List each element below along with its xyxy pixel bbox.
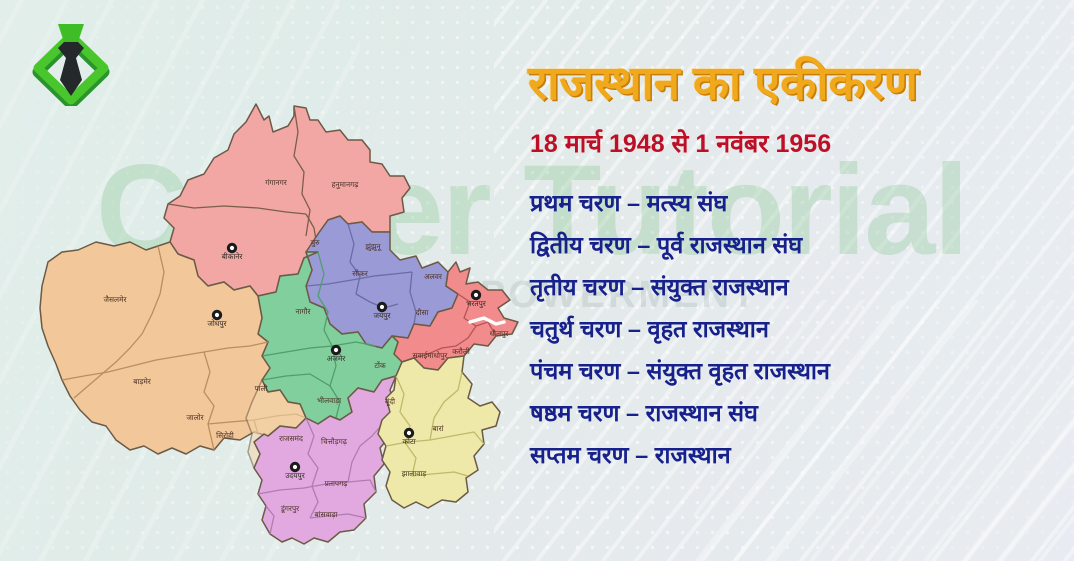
map-district-label: पाली xyxy=(254,384,268,393)
map-district-label: डूंगरपुर xyxy=(280,504,300,514)
map-district-label: बूंदी xyxy=(385,397,396,407)
map-district-label: राजसमंद xyxy=(279,434,303,443)
map-district-label: बांसवाड़ा xyxy=(314,510,338,519)
map-district-label: अजमेर xyxy=(327,354,347,363)
map-district-label: नागौर xyxy=(295,307,311,316)
infographic-canvas: Career Tutorial PLACEMENT & EMPOWERMENT xyxy=(0,0,1074,561)
phase-item-3: तृतीय चरण – संयुक्त राजस्थान xyxy=(530,276,1070,300)
page-title: राजस्थान का एकीकरण xyxy=(528,58,1068,107)
map-district-label: हनुमानगढ़ xyxy=(332,180,360,189)
map-district-label: दौसा xyxy=(416,308,430,317)
map-district-label: सवाईमाधोपुर xyxy=(413,351,449,360)
map-district-label: सीकर xyxy=(352,269,369,278)
phase-item-4: चतुर्थ चरण – वृहत राजस्थान xyxy=(530,318,1070,342)
map-district-label: धौलपुर xyxy=(490,329,510,338)
map-district-label: प्रतापगढ़ xyxy=(325,479,349,488)
map-district-label: झालावाड़ xyxy=(402,469,427,478)
map-district-label: जयपुर xyxy=(374,311,392,320)
map-district-label: बाड़मेर xyxy=(133,377,152,386)
map-district-label: कोटा xyxy=(402,437,416,446)
map-district-label: चुरु xyxy=(310,238,320,247)
page-subtitle: 18 मार्च 1948 से 1 नवंबर 1956 xyxy=(530,126,831,160)
map-district-label: जैसलमेर xyxy=(104,295,128,304)
map-district-label: उदयपुर xyxy=(285,471,305,480)
map-district-label: जोधपुर xyxy=(207,319,227,328)
map-district-label: भीलवाड़ा xyxy=(317,396,342,405)
phase-item-6: षष्ठम चरण – राजस्थान संघ xyxy=(530,402,1070,426)
map-district-label: बारां xyxy=(432,424,444,433)
phase-item-1: प्रथम चरण – मत्स्य संघ xyxy=(530,192,1070,216)
phase-item-7: सप्तम चरण – राजस्थान xyxy=(530,444,1070,468)
map-district-label: जालोर xyxy=(186,413,204,422)
map-district-label: झुंझुनू xyxy=(365,242,381,252)
rajasthan-map: गंगानगरहनुमानगढ़चुरुबीकानेरझुंझुनूसीकरअल… xyxy=(18,46,523,551)
phase-item-2: द्वितीय चरण – पूर्व राजस्थान संघ xyxy=(530,234,1070,258)
map-district-label: सिरोही xyxy=(216,431,235,440)
map-district-label: करौली xyxy=(452,347,471,356)
phase-list: प्रथम चरण – मत्स्य संघद्वितीय चरण – पूर्… xyxy=(530,192,1070,486)
map-district-label: भरतपुर xyxy=(466,299,487,308)
map-district-label: टोंक xyxy=(374,361,386,370)
map-district-label: अलवर xyxy=(424,272,443,281)
map-district-label: बीकानेर xyxy=(222,252,244,261)
map-district-label: चित्तौड़गढ़ xyxy=(321,437,348,446)
content-panel: राजस्थान का एकीकरण 18 मार्च 1948 से 1 नव… xyxy=(524,0,1074,561)
map-district-label: गंगानगर xyxy=(265,178,287,187)
phase-item-5: पंचम चरण – संयुक्त वृहत राजस्थान xyxy=(530,360,1070,384)
